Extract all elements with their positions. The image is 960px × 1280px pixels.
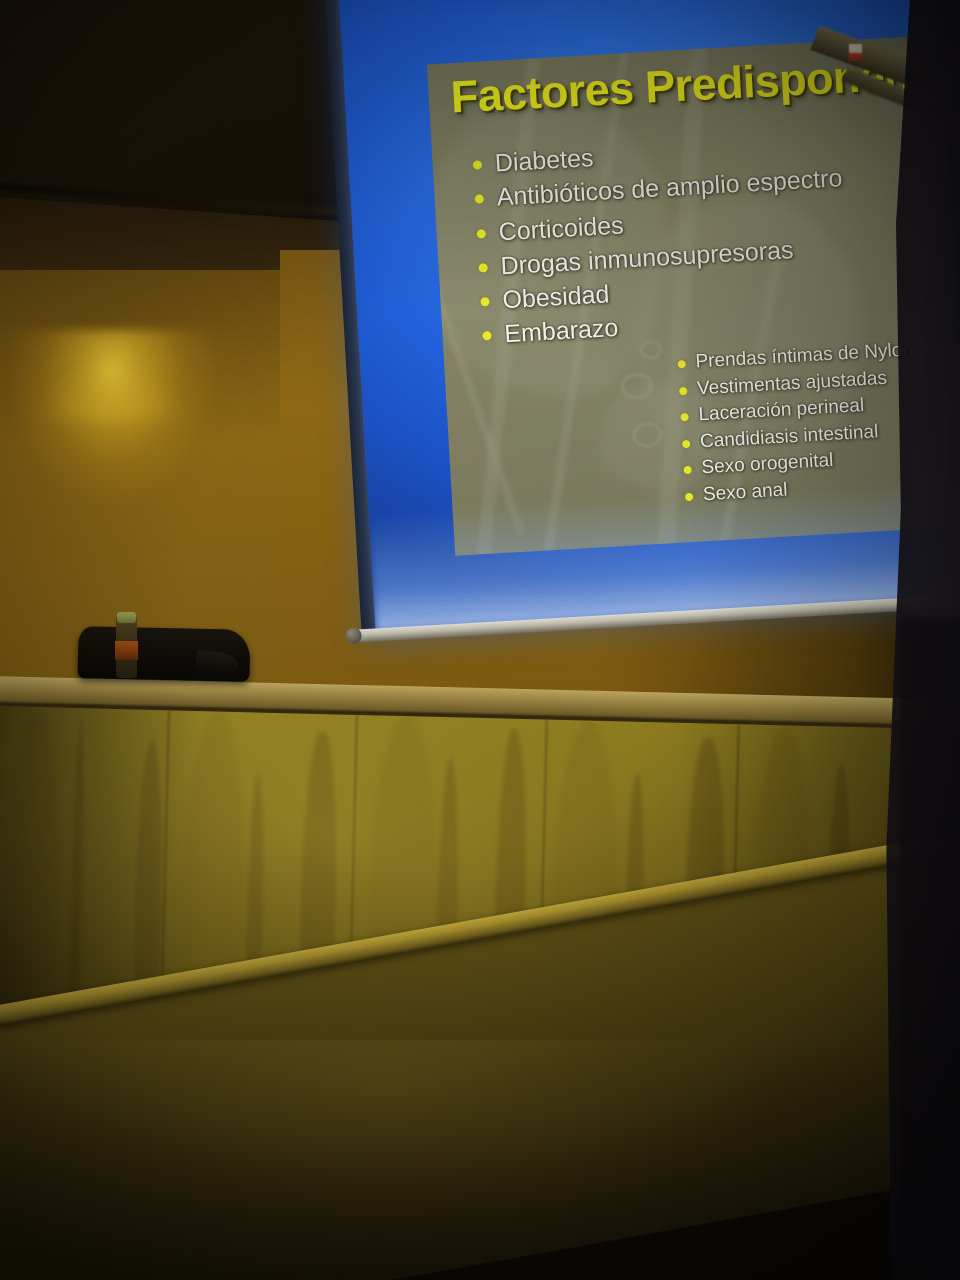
bullet-dot-icon [682,440,690,448]
bullet-text: Obesidad [502,280,610,314]
bullet-text: Corticoides [498,211,624,246]
bullet-text: Sexo orogenital [701,450,834,478]
slide-main-bullet-list: Diabetes Antibióticos de amplio espectro… [468,127,851,353]
bullet-dot-icon [680,413,688,421]
lower-shadow [0,1040,960,1280]
exit-indicator-light [849,44,862,61]
bullet-dot-icon [482,331,491,340]
bullet-text: Diabetes [494,144,594,177]
bullet-dot-icon [677,360,685,368]
bullet-dot-icon [480,297,489,306]
bullet-dot-icon [473,160,482,169]
bullet-dot-icon [475,194,484,203]
projection-screen: Factores Predisponentes Diabetes Antibió… [338,0,960,632]
foreground-silhouette-lower [900,620,960,1280]
bullet-dot-icon [477,229,486,238]
bullet-dot-icon [478,263,487,272]
bullet-dot-icon [679,387,687,395]
bottle-cap [117,612,136,623]
lecture-hall-scene: Factores Predisponentes Diabetes Antibió… [0,0,960,1280]
slide-content-box: Factores Predisponentes Diabetes Antibió… [427,35,960,556]
bullet-text: Embarazo [504,314,619,348]
projection-screen-assembly: Factores Predisponentes Diabetes Antibió… [330,0,960,646]
bottle-label [115,641,138,660]
bullet-dot-icon [683,466,691,474]
wall-spotlight-bloom [10,300,210,420]
